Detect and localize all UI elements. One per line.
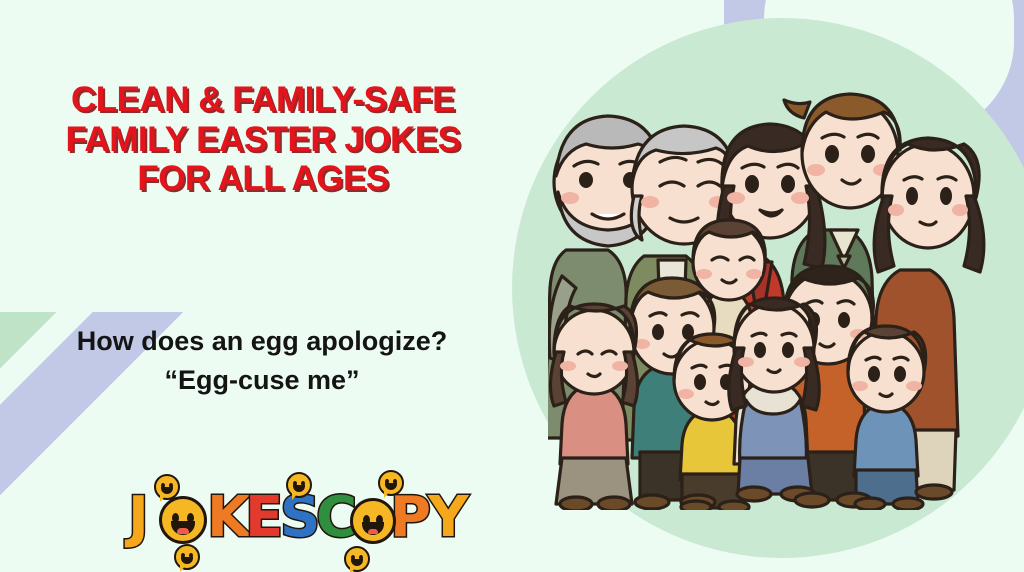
joke-text: How does an egg apologize? “Egg-cuse me” (62, 322, 462, 400)
logo-letter-e: E (245, 488, 281, 548)
laughing-face-sticker-5 (378, 470, 404, 496)
jokescopy-logo[interactable]: J K E S C P Y (128, 474, 408, 566)
logo-letter-k: K (207, 488, 248, 548)
title-line-2: FAMILY EASTER JOKES (28, 120, 498, 160)
logo-smiley-o-3 (350, 498, 396, 544)
logo-smiley-o-1 (159, 496, 207, 544)
logo-letter-j: J (128, 488, 147, 548)
laughing-face-sticker-4 (344, 546, 370, 572)
poster-canvas: CLEAN & FAMILY-SAFE FAMILY EASTER JOKES … (0, 0, 1024, 572)
laughing-face-sticker-3 (174, 544, 200, 570)
page-title: CLEAN & FAMILY-SAFE FAMILY EASTER JOKES … (28, 80, 498, 199)
title-line-3: FOR ALL AGES (28, 159, 498, 199)
family-illustration (548, 80, 1016, 510)
laughing-face-sticker-2 (286, 472, 312, 498)
laughing-face-sticker-1 (154, 474, 180, 500)
title-line-1: CLEAN & FAMILY-SAFE (28, 80, 498, 120)
logo-letter-y: Y (428, 488, 467, 548)
